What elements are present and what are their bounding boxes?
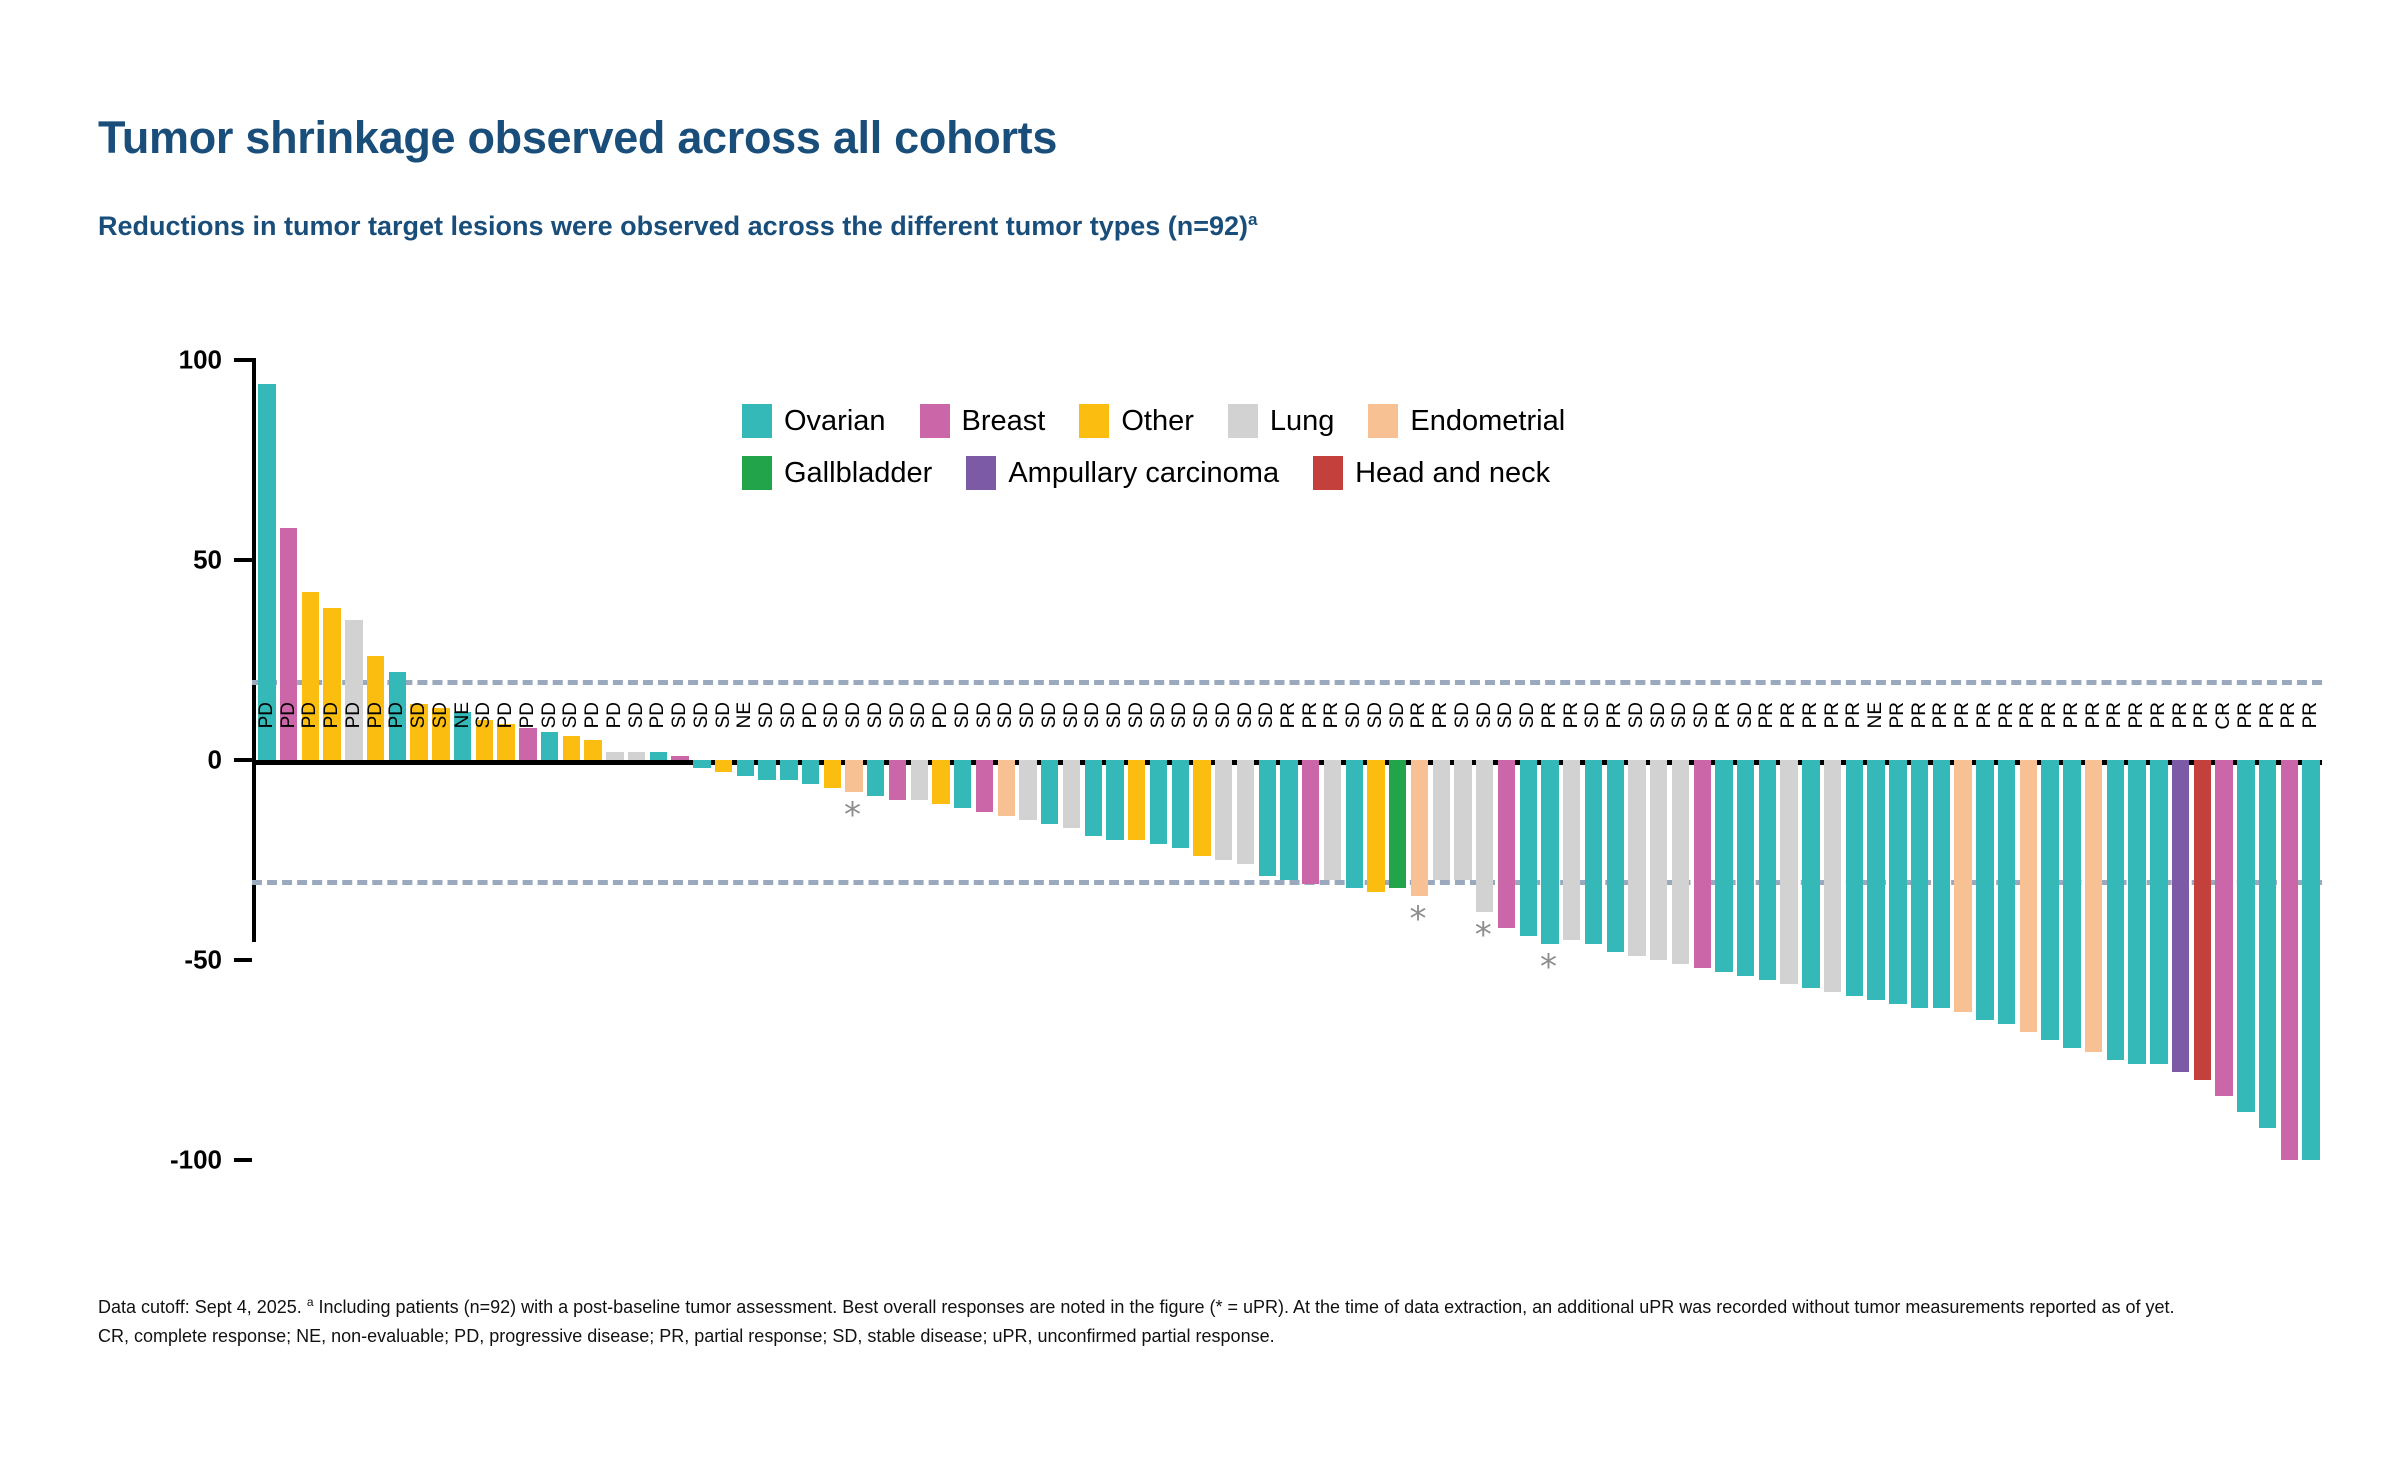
waterfall-bar [2085,760,2102,1052]
bar-response-label: PD [257,702,276,728]
bar-response-label: SD [996,702,1015,728]
legend-row-1: OvarianBreastOtherLungEndometrial [742,404,1802,438]
bar-response-label: PR [2018,702,2037,728]
waterfall-bar [802,760,819,784]
bar-response-label: PR [1801,702,1820,728]
waterfall-bar [715,760,732,772]
footnote-marker: a [307,1295,314,1309]
legend-label: Gallbladder [784,457,932,490]
bar-response-label: PR [1714,702,1733,728]
bar-response-label: SD [540,702,559,728]
upr-asterisk: * [1540,950,1557,984]
waterfall-bar [2020,760,2037,1032]
waterfall-bar [2302,760,2319,1160]
footnote-part2: Including patients (n=92) with a post-ba… [98,1297,2174,1346]
bar-response-label: PR [2062,702,2081,728]
bar-response-label: PD [648,702,667,728]
bar-response-label: SD [1518,702,1537,728]
bar-response-label: SD [1736,702,1755,728]
bar-response-label: SD [1236,702,1255,728]
waterfall-bar [2128,760,2145,1064]
bar-response-label: PD [322,702,341,728]
waterfall-bar [1541,760,1558,944]
bar-response-label: SD [866,702,885,728]
bar-response-label: SD [1388,702,1407,728]
bar-response-label: PR [1910,702,1929,728]
waterfall-bar [1867,760,1884,1000]
bar-response-label: SD [1649,702,1668,728]
waterfall-bar [1998,760,2015,1024]
bar-response-label: PR [1975,702,1994,728]
legend-label: Lung [1270,405,1335,438]
bar-response-label: PR [2258,702,2277,728]
bar-response-label: SD [474,702,493,728]
waterfall-bar [1172,760,1189,848]
waterfall-bar [497,724,514,760]
waterfall-bar [954,760,971,808]
waterfall-bar [323,608,340,760]
waterfall-bar [1106,760,1123,840]
upr-asterisk: * [1409,902,1426,936]
waterfall-bar [889,760,906,800]
bar-response-label: NE [735,702,754,728]
waterfall-bar [2281,760,2298,1160]
legend-swatch [920,404,950,438]
bar-response-label: PD [366,702,385,728]
waterfall-bar [2237,760,2254,1112]
bar-response-label: PR [2149,702,2168,728]
bar-response-label: PR [2236,702,2255,728]
upr-asterisk: * [1475,918,1492,952]
waterfall-bar [998,760,1015,816]
bar-response-label: SD [909,702,928,728]
waterfall-bar [1976,760,1993,1020]
bar-response-label: SD [1344,702,1363,728]
legend-item[interactable]: Ampullary carcinoma [966,456,1279,490]
bar-response-label: PR [1844,702,1863,728]
waterfall-bar [1019,760,1036,820]
bar-response-label: PR [1605,702,1624,728]
bar-response-label: PR [1888,702,1907,728]
bar-response-label: SD [779,702,798,728]
waterfall-bar [976,760,993,812]
chart-legend: OvarianBreastOtherLungEndometrial Gallbl… [742,404,1802,508]
bar-response-label: SD [1149,702,1168,728]
bar-response-label: SD [975,702,994,728]
bar-response-label: NE [453,702,472,728]
bar-response-label: SD [1366,702,1385,728]
waterfall-bar [1824,760,1841,992]
bar-response-label: PR [1997,702,2016,728]
waterfall-bar [671,756,688,760]
waterfall-bar [1628,760,1645,956]
waterfall-bar [1411,760,1428,896]
waterfall-bar [1585,760,1602,944]
waterfall-bar [628,752,645,760]
legend-label: Endometrial [1410,405,1565,438]
bar-response-label: PR [2171,702,2190,728]
waterfall-bars: PDPDPDPDPDPDPDSDSDNESDPDPDSDSDPDPDSDPDSD… [0,0,2396,1458]
bar-response-label: PR [1540,702,1559,728]
legend-swatch [742,404,772,438]
waterfall-bar [1085,760,1102,836]
waterfall-bar [1041,760,1058,824]
bar-response-label: SD [1192,702,1211,728]
bar-response-label: SD [1692,702,1711,728]
bar-response-label: PR [1431,702,1450,728]
waterfall-bar [1324,760,1341,880]
bar-response-label: PD [387,702,406,728]
bar-response-label: PR [1301,702,1320,728]
waterfall-bar [302,592,319,760]
bar-response-label: PR [2127,702,2146,728]
waterfall-bar [345,620,362,760]
bar-response-label: PR [2084,702,2103,728]
legend-item[interactable]: Head and neck [1313,456,1550,490]
bar-response-label: PR [1931,702,1950,728]
bar-response-label: PD [518,702,537,728]
bar-response-label: PD [583,702,602,728]
waterfall-bar [1150,760,1167,844]
bar-response-label: PR [1322,702,1341,728]
footnote: Data cutoff: Sept 4, 2025. a Including p… [98,1293,2188,1351]
bar-response-label: PR [1757,702,1776,728]
bar-response-label: SD [1627,702,1646,728]
legend-swatch [1079,404,1109,438]
waterfall-bar [2107,760,2124,1060]
waterfall-bar [693,760,710,768]
bar-response-label: PD [496,702,515,728]
waterfall-bar [911,760,928,800]
bar-response-label: SD [888,702,907,728]
bar-response-label: SD [1127,702,1146,728]
waterfall-bar [867,760,884,796]
waterfall-bar [1737,760,1754,976]
bar-response-label: PD [801,702,820,728]
waterfall-bar [584,740,601,760]
bar-response-label: SD [757,702,776,728]
legend-item[interactable]: Gallbladder [742,456,932,490]
waterfall-bar [1520,760,1537,936]
waterfall-bar [1498,760,1515,928]
waterfall-bar [2215,760,2232,1096]
footnote-part1: Data cutoff: Sept 4, 2025. [98,1297,307,1317]
bar-response-label: SD [1475,702,1494,728]
waterfall-bar [2041,760,2058,1040]
legend-label: Head and neck [1355,457,1550,490]
bar-response-label: SD [1062,702,1081,728]
bar-response-label: PR [1562,702,1581,728]
waterfall-bar [1259,760,1276,876]
bar-response-label: PR [2040,702,2059,728]
legend-label: Ampullary carcinoma [1008,457,1279,490]
legend-swatch [1368,404,1398,438]
waterfall-bar [1715,760,1732,972]
waterfall-bar [2194,760,2211,1080]
bar-response-label: SD [1670,702,1689,728]
waterfall-bar [2150,760,2167,1064]
legend-item[interactable]: Other [1079,404,1194,438]
bar-response-label: SD [1214,702,1233,728]
waterfall-bar [1476,760,1493,912]
bar-response-label: SD [1496,702,1515,728]
bar-response-label: SD [561,702,580,728]
bar-response-label: PR [1279,702,1298,728]
waterfall-bar [1367,760,1384,892]
bar-response-label: PD [605,702,624,728]
waterfall-bar [2259,760,2276,1128]
bar-response-label: PR [2105,702,2124,728]
waterfall-bar [1302,760,1319,884]
bar-response-label: PR [1779,702,1798,728]
waterfall-bar [650,752,667,760]
waterfall-bar [1802,760,1819,988]
legend-item[interactable]: Lung [1228,404,1335,438]
waterfall-bar [563,736,580,760]
waterfall-bar [2063,760,2080,1048]
legend-swatch [1228,404,1258,438]
legend-label: Ovarian [784,405,886,438]
waterfall-bar [606,752,623,760]
bar-response-label: PD [300,702,319,728]
waterfall-bar [1063,760,1080,828]
legend-swatch [966,456,996,490]
waterfall-bar [1759,760,1776,980]
waterfall-bar [1454,760,1471,880]
waterfall-bar [1694,760,1711,968]
legend-label: Other [1121,405,1194,438]
bar-response-label: SD [1170,702,1189,728]
bar-response-label: PR [2192,702,2211,728]
bar-response-label: SD [1040,702,1059,728]
bar-response-label: SD [844,702,863,728]
bar-response-label: PD [931,702,950,728]
waterfall-bar [1346,760,1363,888]
waterfall-bar [1237,760,1254,864]
bar-response-label: SD [1083,702,1102,728]
bar-response-label: SD [670,702,689,728]
waterfall-bar [1911,760,1928,1008]
waterfall-bar [1672,760,1689,964]
bar-response-label: SD [1105,702,1124,728]
waterfall-bar [1650,760,1667,960]
waterfall-bar [1933,760,1950,1008]
waterfall-bar [1954,760,1971,1012]
bar-response-label: SD [953,702,972,728]
legend-label: Breast [962,405,1046,438]
waterfall-bar [1889,760,1906,1004]
waterfall-bar [1389,760,1406,888]
bar-response-label: CR [2214,702,2233,729]
bar-response-label: SD [409,702,428,728]
bar-response-label: SD [1453,702,1472,728]
bar-response-label: PD [279,702,298,728]
waterfall-bar [2172,760,2189,1072]
bar-response-label: PR [1953,702,1972,728]
legend-item[interactable]: Breast [920,404,1046,438]
bar-response-label: PR [1409,702,1428,728]
waterfall-bar [845,760,862,792]
upr-asterisk: * [844,798,861,832]
waterfall-bar [1128,760,1145,840]
bar-response-label: SD [714,702,733,728]
legend-swatch [742,456,772,490]
bar-response-label: SD [1018,702,1037,728]
waterfall-bar [1607,760,1624,952]
legend-swatch [1313,456,1343,490]
bar-response-label: SD [822,702,841,728]
waterfall-bar [519,728,536,760]
waterfall-bar [780,760,797,780]
bar-response-label: SD [1583,702,1602,728]
bar-response-label: SD [1257,702,1276,728]
waterfall-bar [1193,760,1210,856]
legend-row-2: GallbladderAmpullary carcinomaHead and n… [742,456,1802,490]
bar-response-label: SD [627,702,646,728]
legend-item[interactable]: Ovarian [742,404,886,438]
bar-response-label: PR [1823,702,1842,728]
bar-response-label: PD [344,702,363,728]
waterfall-bar [1846,760,1863,996]
waterfall-bar [932,760,949,804]
waterfall-bar [824,760,841,788]
bar-response-label: SD [431,702,450,728]
waterfall-bar [541,732,558,760]
bar-response-label: PR [2301,702,2320,728]
bar-response-label: SD [692,702,711,728]
waterfall-bar [1215,760,1232,860]
waterfall-bar [1780,760,1797,984]
waterfall-bar [1433,760,1450,880]
waterfall-bar [758,760,775,780]
waterfall-bar [1280,760,1297,880]
waterfall-bar [737,760,754,776]
legend-item[interactable]: Endometrial [1368,404,1565,438]
bar-response-label: NE [1866,702,1885,728]
waterfall-bar [1563,760,1580,940]
bar-response-label: PR [2279,702,2298,728]
